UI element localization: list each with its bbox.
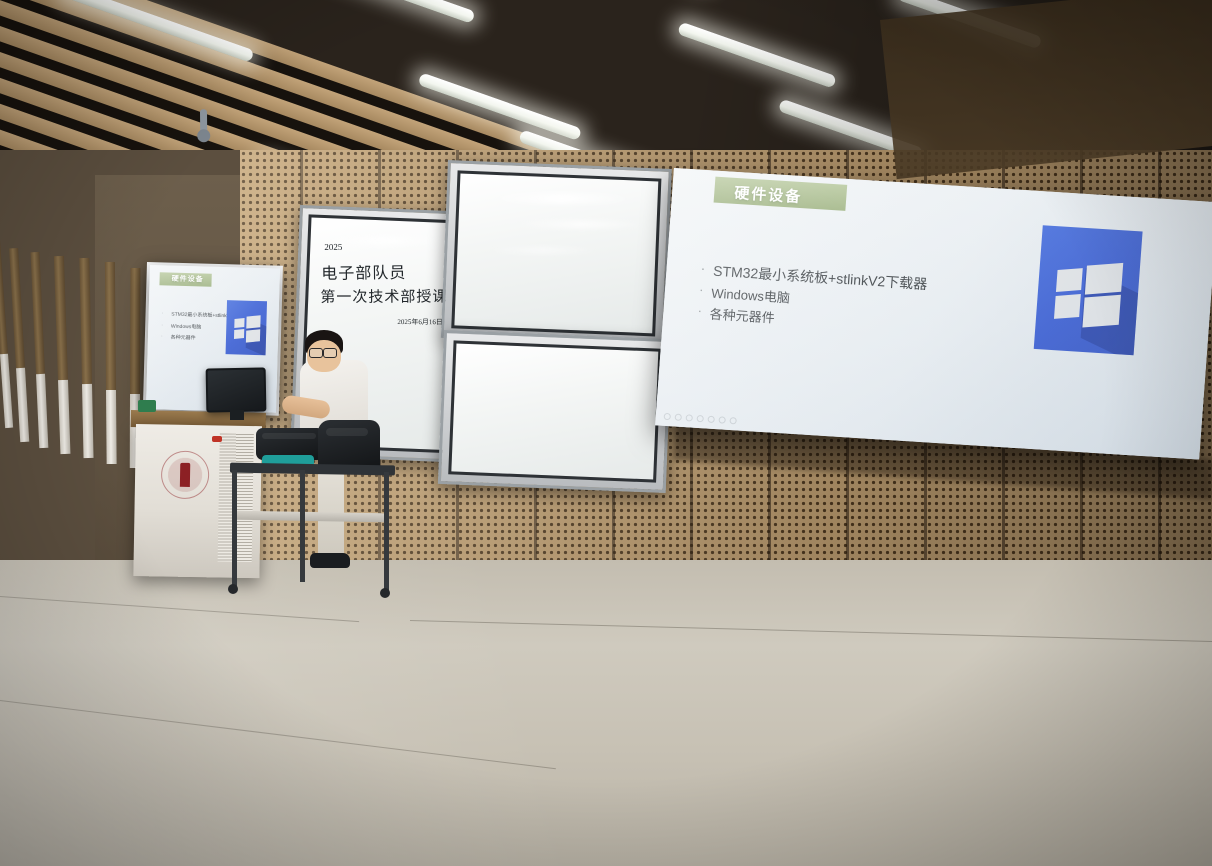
circle-icon[interactable] [664, 413, 671, 420]
cart-caster [380, 588, 390, 598]
cursor-icon[interactable] [718, 416, 725, 423]
red-marker [212, 436, 222, 442]
bullet-dot-icon: · [697, 303, 702, 318]
cart-caster [228, 584, 238, 594]
slide-toolbar-icons[interactable] [664, 413, 737, 425]
main-projection-screen[interactable]: 硬件设备 · STM32最小系统板+stlinkV2下载器 · Windows电… [655, 168, 1212, 460]
bullet-dot-icon: · [700, 260, 706, 276]
slide-bullet-text: Windows电脑 [711, 283, 791, 307]
glasses-icon [323, 348, 337, 358]
green-box [138, 400, 156, 412]
desktop-monitor[interactable] [206, 367, 267, 412]
whiteboard-line-2: 第一次技术部授课 [320, 285, 448, 306]
wood-fin [130, 268, 140, 394]
scissors-icon[interactable] [696, 415, 703, 422]
cart-leg [384, 472, 389, 592]
presentation-slide: 硬件设备 · STM32最小系统板+stlinkV2下载器 · Windows电… [655, 168, 1212, 460]
wood-fin-base [82, 384, 94, 458]
circle-icon[interactable] [675, 414, 682, 421]
monitor-stand [230, 410, 244, 420]
pen-icon[interactable] [685, 414, 692, 421]
keyboard-icon[interactable] [707, 416, 714, 423]
wood-fin [105, 262, 116, 390]
university-crest-icon [161, 450, 210, 499]
whiteboard-date: 2025年6月16日 [397, 317, 443, 327]
slide-bullet-2: · 各种元器件 [697, 303, 776, 327]
whiteboard-right-upper [441, 160, 672, 347]
cart-leg [300, 470, 305, 582]
glasses-icon [309, 348, 323, 358]
dot-icon[interactable] [729, 417, 736, 424]
whiteboard-year: 2025 [324, 242, 342, 252]
cart-leg [232, 470, 237, 588]
wood-fin-base [106, 390, 117, 464]
windows-logo-tile [1034, 225, 1143, 355]
person-shoe [310, 553, 350, 568]
slide-title: 硬件设备 [734, 182, 803, 207]
podium [133, 424, 262, 578]
lecture-hall-photo: 2025 电子部队员 第一次技术部授课 2025年6月16日 右侧投影幕面 请勿… [0, 0, 1212, 866]
bullet-dot-icon: · [699, 282, 704, 297]
slide-bullet-text: 各种元器件 [709, 304, 775, 327]
whiteboard-right-lower [438, 330, 672, 493]
whiteboard-line-1: 电子部队员 [321, 259, 406, 284]
